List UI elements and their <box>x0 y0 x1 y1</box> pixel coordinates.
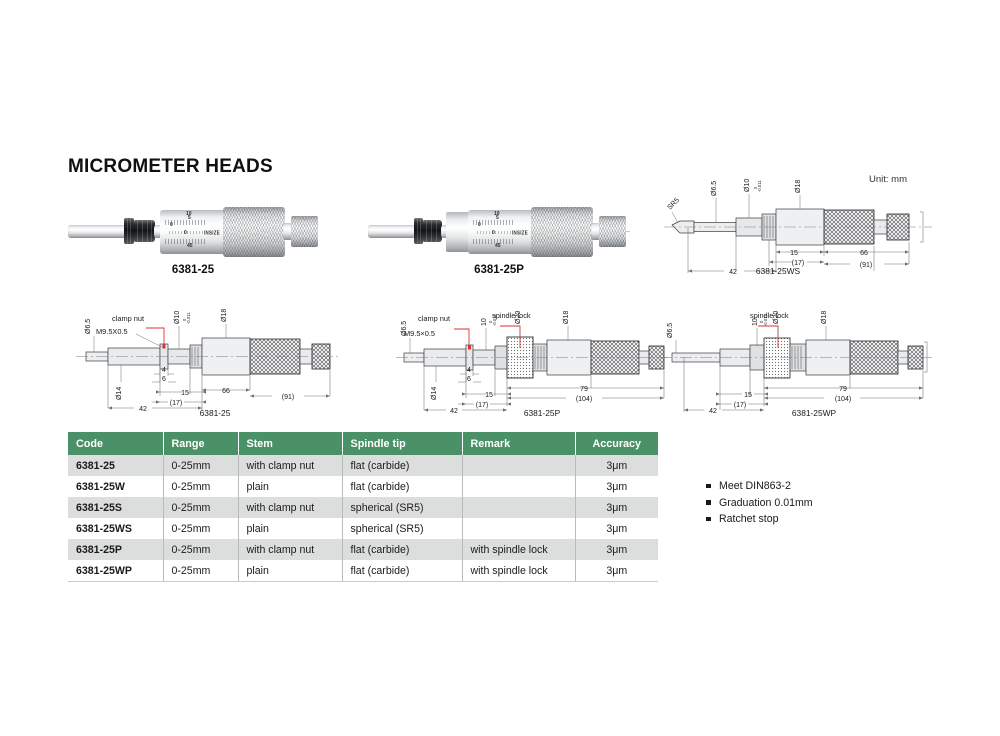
label-flange-diameter: Ø14 <box>431 387 438 400</box>
cell-stem: plain <box>238 476 342 497</box>
list-item: Ratchet stop <box>706 511 813 528</box>
cell-accuracy: 3μm <box>575 497 658 518</box>
cell-code: 6381-25WP <box>68 560 163 582</box>
label-tip-diameter: Ø6.5 <box>711 181 718 196</box>
label-stem-diameter: Ø10 <box>744 179 751 192</box>
ratchet-stop <box>291 216 318 247</box>
dim-104: (104) <box>835 396 851 403</box>
dim-15: 15 <box>744 392 752 399</box>
photo-caption: 6381-25P <box>368 264 630 276</box>
label-barrel-diameter: Ø18 <box>795 180 802 193</box>
product-photo-6381-25: 0 5 10 45 0 INSIZE 6381-25 <box>68 196 318 276</box>
column-header-range: Range <box>163 432 238 455</box>
dial-digit: 45 <box>187 243 193 249</box>
clamp-nut-body <box>133 220 155 242</box>
spindle-shaft <box>368 225 416 238</box>
label-thread: M9.5×0.5 <box>404 329 435 338</box>
dim-6: 6 <box>162 376 166 383</box>
page-title: MICROMETER HEADS <box>68 156 273 178</box>
cell-accuracy: 3μm <box>575 518 658 539</box>
drawing-caption: 6381-25P <box>406 408 678 418</box>
cell-range: 0-25mm <box>163 518 238 539</box>
cell-code: 6381-25WS <box>68 518 163 539</box>
dial-digit-zero: 0 <box>492 230 495 236</box>
table-row[interactable]: 6381-25WS 0-25mm plain spherical (SR5) 3… <box>68 518 658 539</box>
cell-range: 0-25mm <box>163 497 238 518</box>
dim-6: 6 <box>467 376 471 383</box>
square-bullet-icon <box>706 500 711 505</box>
table-header-row: Code Range Stem Spindle tip Remark Accur… <box>68 432 658 455</box>
dim-79: 79 <box>580 386 588 393</box>
column-header-remark: Remark <box>462 432 575 455</box>
cell-code: 6381-25S <box>68 497 163 518</box>
cell-stem: plain <box>238 560 342 582</box>
label-thread: M9.5X0.5 <box>96 327 128 336</box>
cell-stem: with clamp nut <box>238 455 342 476</box>
cell-spindle-tip: flat (carbide) <box>342 455 462 476</box>
label-lock-diameter: Ø20 <box>515 311 522 324</box>
drawing-caption: 6381-25WS <box>644 266 912 276</box>
label-stem-diameter: Ø10 <box>174 311 181 324</box>
drawing-6381-25wp: spindle lock Ø6.5 10 0 -0.011 Ø20 Ø18 15… <box>660 304 932 414</box>
brand-mark: INSIZE <box>512 229 528 235</box>
label-barrel-diameter: Ø18 <box>221 309 228 322</box>
cell-spindle-tip: flat (carbide) <box>342 476 462 497</box>
table-row[interactable]: 6381-25P 0-25mm with clamp nut flat (car… <box>68 539 658 560</box>
feature-list: Meet DIN863-2 Graduation 0.01mm Ratchet … <box>706 478 813 528</box>
column-header-code: Code <box>68 432 163 455</box>
table-row[interactable]: 6381-25S 0-25mm with clamp nut spherical… <box>68 497 658 518</box>
square-bullet-icon <box>706 484 711 489</box>
clamp-nut-body <box>422 220 442 242</box>
thimble <box>531 207 593 257</box>
feature-text: Graduation 0.01mm <box>719 497 813 509</box>
cell-range: 0-25mm <box>163 539 238 560</box>
dim-66: 66 <box>222 388 230 395</box>
cell-code: 6381-25 <box>68 455 163 476</box>
label-tip-diameter: Ø6.5 <box>401 321 408 336</box>
column-header-spindle-tip: Spindle tip <box>342 432 462 455</box>
dial-digit: 45 <box>495 243 501 249</box>
dim-4: 4 <box>162 367 166 374</box>
list-item: Graduation 0.01mm <box>706 495 813 512</box>
cell-spindle-tip: spherical (SR5) <box>342 518 462 539</box>
cell-remark <box>462 455 575 476</box>
specification-table: Code Range Stem Spindle tip Remark Accur… <box>68 432 658 582</box>
cell-remark: with spindle lock <box>462 560 575 582</box>
cell-stem: plain <box>238 518 342 539</box>
dial-digit: 10 <box>186 211 192 217</box>
dial-digit-zero: 0 <box>184 230 187 236</box>
cell-spindle-tip: flat (carbide) <box>342 560 462 582</box>
cell-remark <box>462 497 575 518</box>
dial-digit: 10 <box>494 211 500 217</box>
feature-text: Meet DIN863-2 <box>719 480 791 492</box>
feature-text: Ratchet stop <box>719 513 778 525</box>
label-stem-tol-bottom: -0.011 <box>757 180 762 192</box>
cell-accuracy: 3μm <box>575 455 658 476</box>
cell-remark <box>462 518 575 539</box>
dial-digit: 0 <box>170 222 173 228</box>
drawing-caption: 6381-25WP <box>678 408 950 418</box>
drawing-6381-25p: clamp nut spindle lock M9.5×0.5 Ø6.5 Ø14… <box>396 304 668 414</box>
cell-accuracy: 3μm <box>575 476 658 497</box>
cell-code: 6381-25W <box>68 476 163 497</box>
ratchet-stop <box>599 216 626 247</box>
drawing-6381-25: clamp nut M9.5X0.5 Ø6.5 Ø14 Ø10 0 -0.011… <box>76 304 338 414</box>
graduation-sleeve: 0 5 10 45 0 INSIZE <box>468 210 534 254</box>
label-flange-diameter: Ø14 <box>116 387 123 400</box>
graduation-sleeve: 0 5 10 45 0 INSIZE <box>160 210 226 254</box>
label-spindle-lock: spindle lock <box>492 311 531 320</box>
table-row[interactable]: 6381-25W 0-25mm plain flat (carbide) 3μm <box>68 476 658 497</box>
dim-15: 15 <box>181 390 189 397</box>
drawing-caption: 6381-25 <box>84 408 346 418</box>
label-tip-radius: SR5 <box>666 197 681 212</box>
label-tip-diameter: Ø6.5 <box>667 323 674 338</box>
label-clamp-nut: clamp nut <box>418 314 450 323</box>
brand-mark: INSIZE <box>204 229 220 235</box>
dial-digit: 0 <box>478 222 481 228</box>
cell-accuracy: 3μm <box>575 539 658 560</box>
cell-stem: with clamp nut <box>238 539 342 560</box>
dim-66: 66 <box>860 250 868 257</box>
label-stem-tol-bottom: -0.011 <box>186 312 191 324</box>
dim-15: 15 <box>485 392 493 399</box>
label-stem-diameter: 10 <box>752 318 759 326</box>
photo-caption: 6381-25 <box>68 264 318 276</box>
cell-spindle-tip: spherical (SR5) <box>342 497 462 518</box>
column-header-accuracy: Accuracy <box>575 432 658 455</box>
dim-4: 4 <box>467 367 471 374</box>
micrometer-illustration: 0 5 10 45 0 INSIZE <box>68 204 318 260</box>
table-row[interactable]: 6381-25WP 0-25mm plain flat (carbide) wi… <box>68 560 658 582</box>
drawing-6381-25ws: SR5 Ø6.5 Ø10 0 -0.011 Ø18 15 (17) 66 (91… <box>664 176 932 276</box>
micrometer-illustration: 0 5 10 45 0 INSIZE <box>368 204 630 260</box>
cell-range: 0-25mm <box>163 455 238 476</box>
column-header-stem: Stem <box>238 432 342 455</box>
label-lock-diameter: Ø20 <box>773 311 780 324</box>
label-clamp-nut: clamp nut <box>112 314 144 323</box>
cell-code: 6381-25P <box>68 539 163 560</box>
product-photo-6381-25p: 0 5 10 45 0 INSIZE 6381-25P <box>368 196 630 276</box>
cell-range: 0-25mm <box>163 476 238 497</box>
cell-range: 0-25mm <box>163 560 238 582</box>
square-bullet-icon <box>706 517 711 522</box>
label-stem-tol-bottom: -0.011 <box>763 314 768 326</box>
list-item: Meet DIN863-2 <box>706 478 813 495</box>
thimble <box>223 207 285 257</box>
label-barrel-diameter: Ø18 <box>821 311 828 324</box>
label-stem-diameter: 10 <box>481 318 488 326</box>
dim-15: 15 <box>790 250 798 257</box>
cell-stem: with clamp nut <box>238 497 342 518</box>
label-stem-tol-bottom: -0.011 <box>492 314 497 326</box>
cell-remark: with spindle lock <box>462 539 575 560</box>
table-row[interactable]: 6381-25 0-25mm with clamp nut flat (carb… <box>68 455 658 476</box>
dim-17: (17) <box>170 400 182 407</box>
label-barrel-diameter: Ø18 <box>563 311 570 324</box>
dim-79: 79 <box>839 386 847 393</box>
dim-91: (91) <box>282 394 294 401</box>
label-tip-diameter: Ø6.5 <box>85 319 92 334</box>
cell-spindle-tip: flat (carbide) <box>342 539 462 560</box>
cell-accuracy: 3μm <box>575 560 658 582</box>
spindle-shaft <box>68 225 126 238</box>
cell-remark <box>462 476 575 497</box>
dim-104: (104) <box>576 396 592 403</box>
